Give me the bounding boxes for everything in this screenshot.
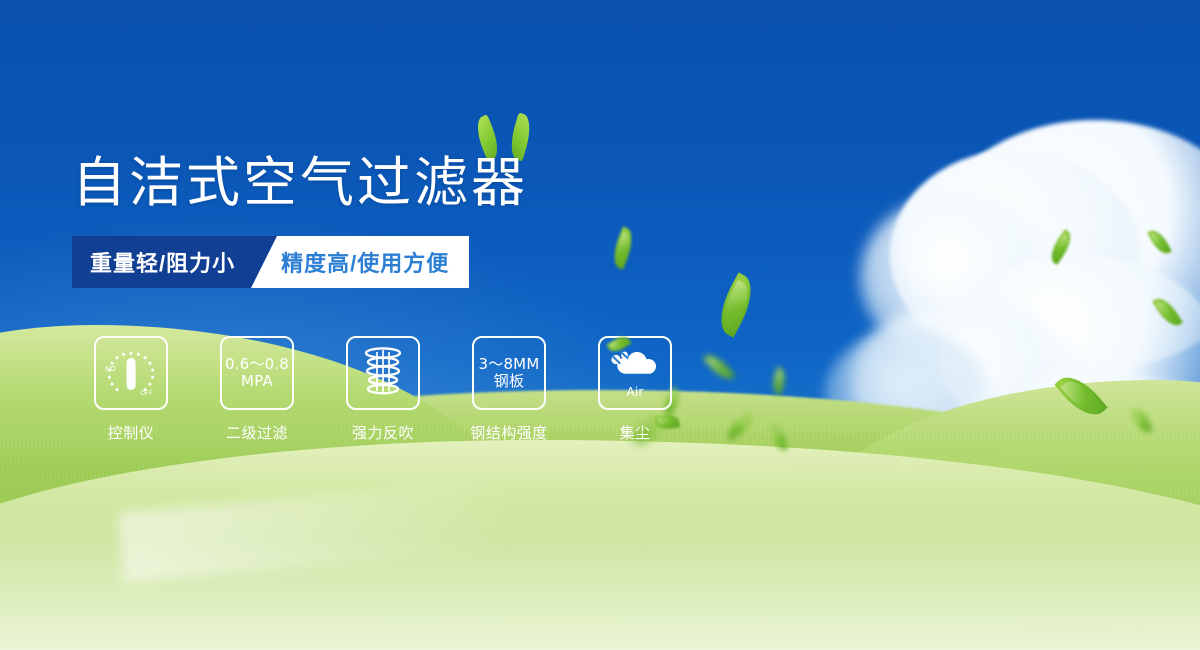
feature-item[interactable]: 3～8MM 钢板 钢结构强度 (450, 336, 568, 443)
steel-plate-text-icon: 3～8MM 钢板 (472, 336, 546, 410)
tagline-left: 重量轻/阻力小 (72, 236, 251, 288)
feature-label: 控制仪 (108, 422, 155, 443)
tagline-banner: 重量轻/阻力小 精度高/使用方便 (72, 236, 469, 288)
tagline-divider (251, 236, 277, 288)
gauge-off-label: OFF (140, 389, 153, 397)
gauge-switch-icon: NO OFF (94, 336, 168, 410)
tagline-right: 精度高/使用方便 (277, 236, 469, 288)
steel-value-line2: 钢板 (494, 373, 524, 390)
feature-item[interactable]: 强力反吹 (324, 336, 442, 443)
feature-label: 二级过滤 (226, 422, 288, 443)
air-label: Air (626, 386, 643, 399)
pressure-value-line2: MPA (241, 373, 273, 390)
feature-item[interactable]: 0.6～0.8 MPA 二级过滤 (198, 336, 316, 443)
feature-label: 钢结构强度 (470, 422, 548, 443)
feature-list: NO OFF 控制仪 0.6～0.8 MPA 二级过滤 (72, 336, 694, 443)
filter-cartridge-icon (346, 336, 420, 410)
hero-banner: 自洁式空气过滤器 重量轻/阻力小 精度高/使用方便 (0, 0, 1200, 650)
gauge-no-label: NO (105, 365, 116, 373)
page-title: 自洁式空气过滤器 (72, 138, 528, 217)
pressure-text-icon: 0.6～0.8 MPA (220, 336, 294, 410)
steel-value-line1: 3～8MM (479, 356, 540, 373)
pressure-value-line1: 0.6～0.8 (225, 356, 289, 373)
feature-label: 集尘 (619, 422, 650, 443)
feature-label: 强力反吹 (352, 422, 414, 443)
feature-item[interactable]: NO OFF 控制仪 (72, 336, 190, 443)
